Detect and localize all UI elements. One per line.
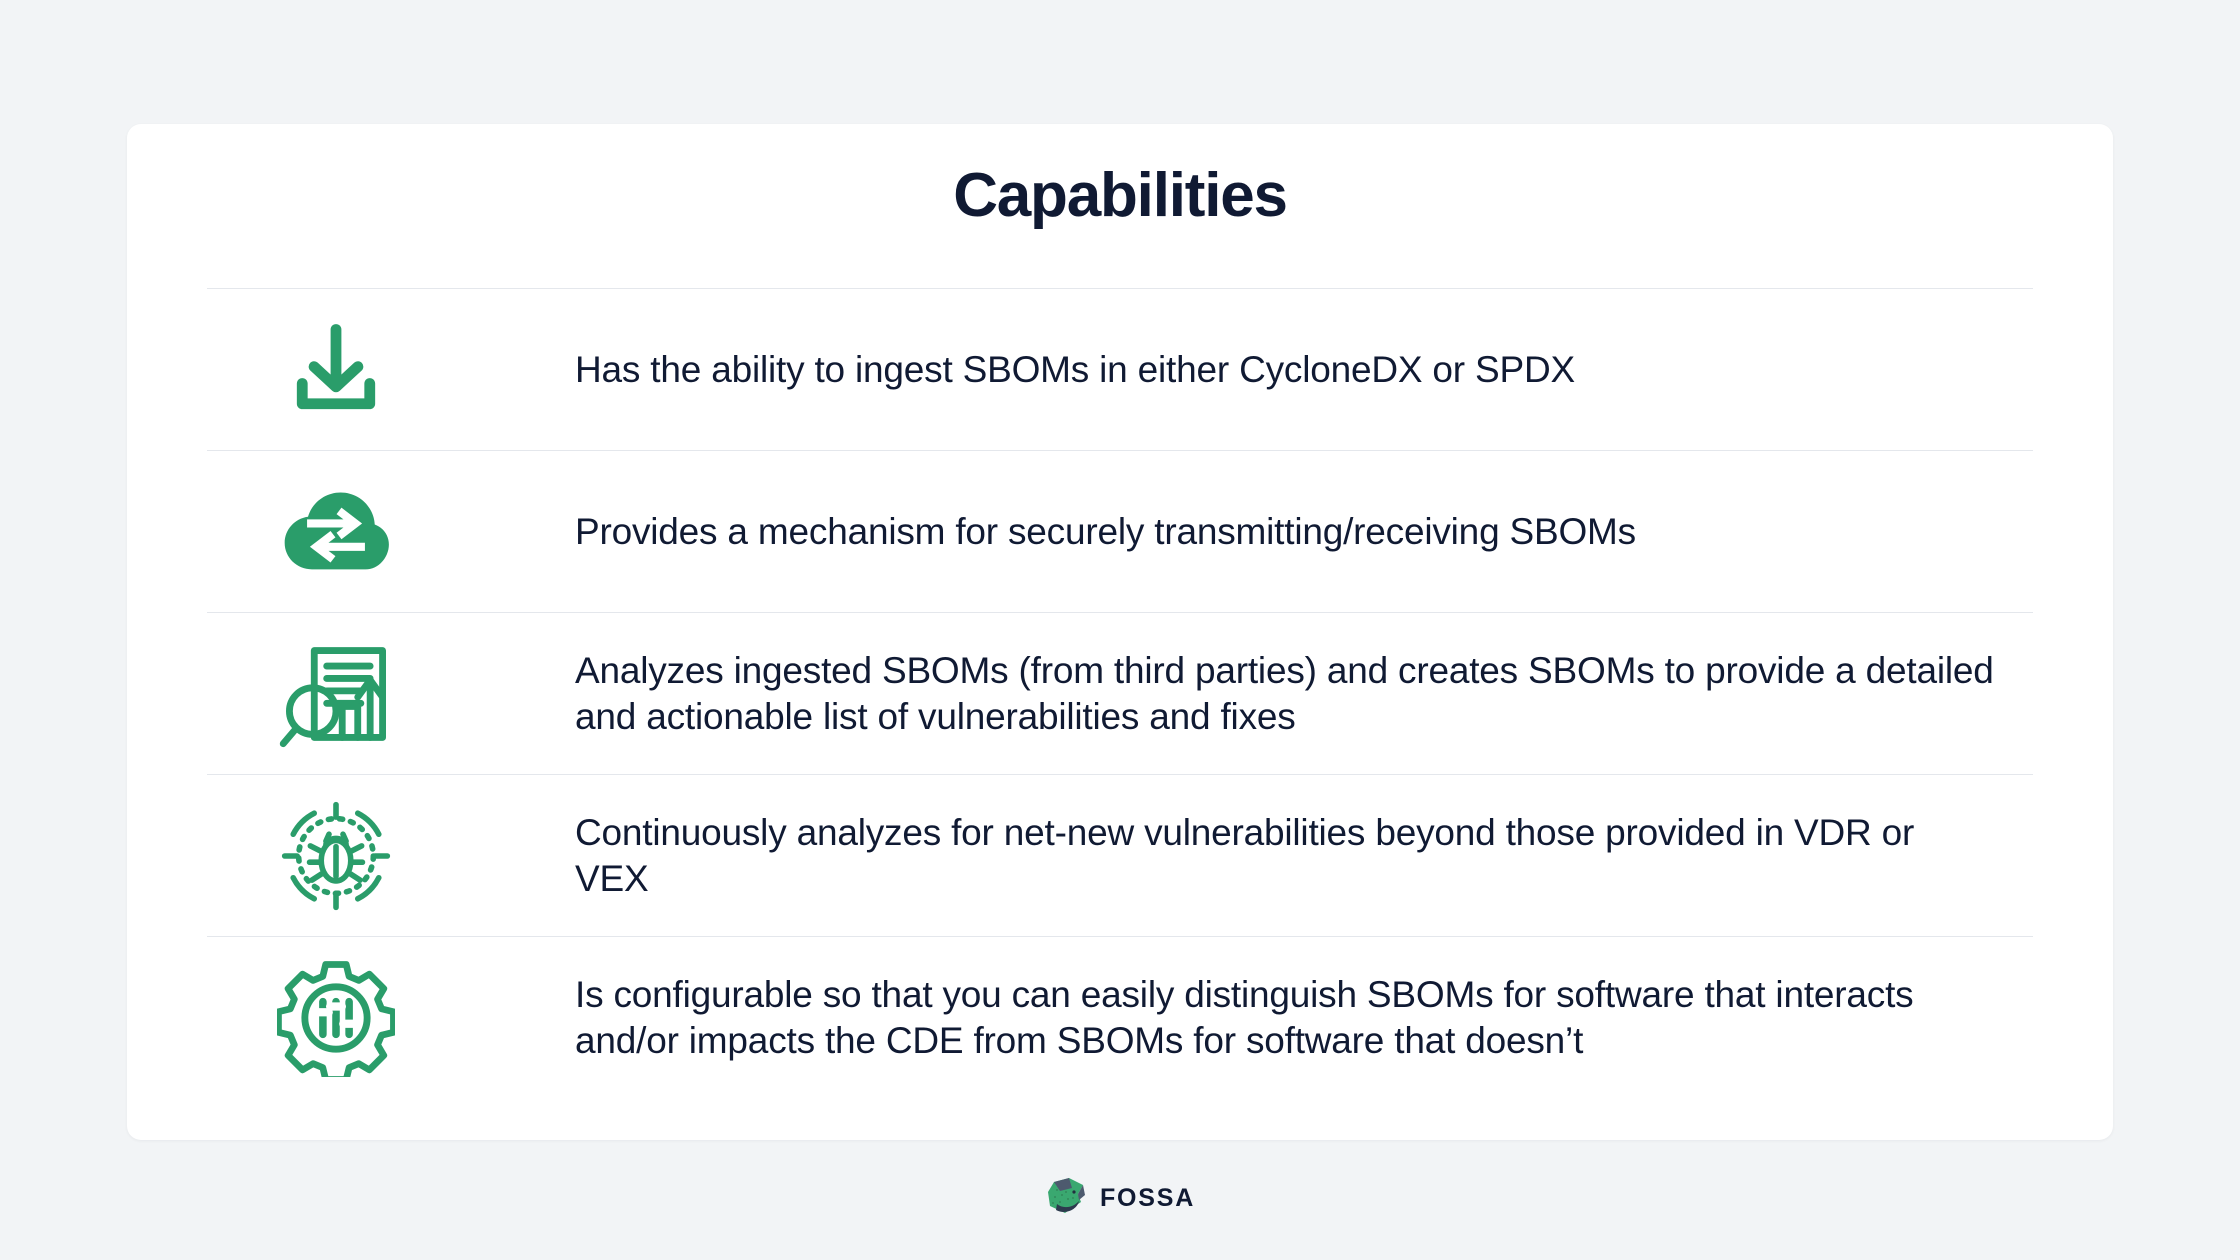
table-row: Has the ability to ingest SBOMs in eithe… [207, 288, 2033, 450]
document-analysis-magnifier-icon [207, 613, 465, 774]
footer-logo: FOSSA [0, 1176, 2240, 1221]
fossa-wordmark: FOSSA [1100, 1184, 1195, 1213]
fossa-animal-mark-icon [1045, 1176, 1087, 1221]
cloud-transfer-icon [207, 451, 465, 612]
capability-text: Is configurable so that you can easily d… [465, 960, 2033, 1074]
gear-sliders-icon [207, 937, 465, 1098]
table-row: Continuously analyzes for net-new vulner… [207, 774, 2033, 936]
capability-text: Continuously analyzes for net-new vulner… [465, 798, 2033, 912]
capabilities-card: Capabilities Has the ability to ingest S… [127, 124, 2113, 1140]
page-title: Capabilities [127, 124, 2113, 230]
capabilities-table: Has the ability to ingest SBOMs in eithe… [207, 288, 2033, 1098]
download-tray-icon [207, 289, 465, 450]
table-row: Is configurable so that you can easily d… [207, 936, 2033, 1098]
table-row: Analyzes ingested SBOMs (from third part… [207, 612, 2033, 774]
table-row: Provides a mechanism for securely transm… [207, 450, 2033, 612]
capability-text: Provides a mechanism for securely transm… [465, 497, 2033, 566]
bug-target-icon [207, 775, 465, 936]
capability-text: Analyzes ingested SBOMs (from third part… [465, 636, 2033, 750]
capability-text: Has the ability to ingest SBOMs in eithe… [465, 335, 2033, 404]
